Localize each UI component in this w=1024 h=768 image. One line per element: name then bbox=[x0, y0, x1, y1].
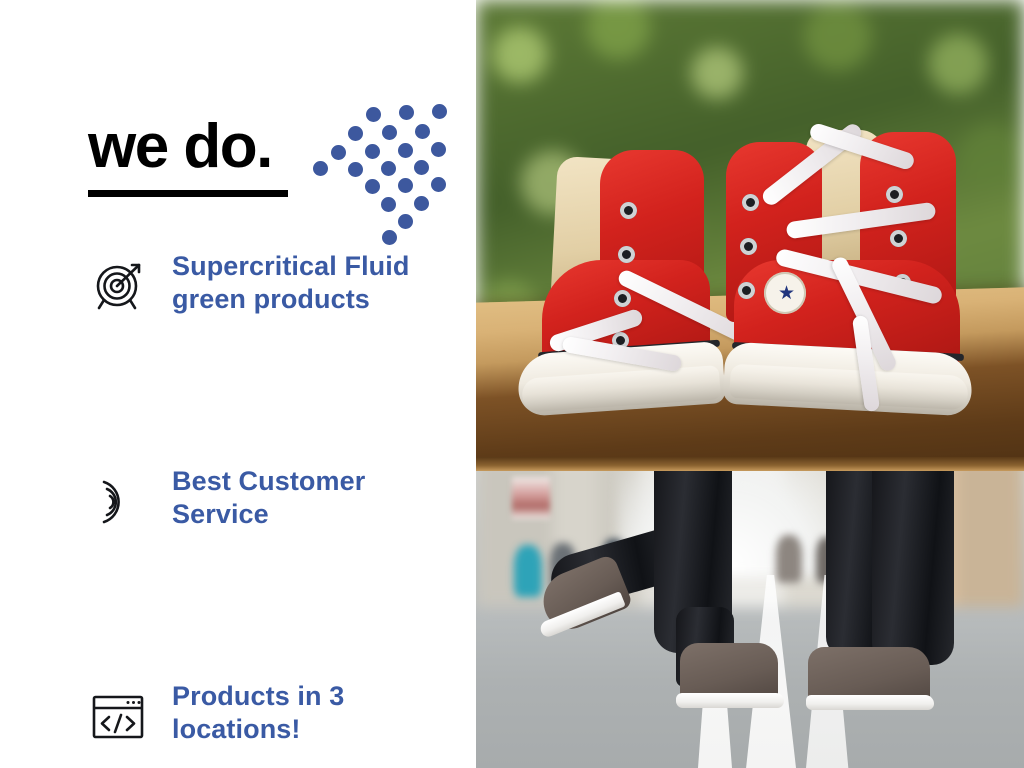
man-shoe-sole bbox=[806, 695, 934, 710]
feature-label: Supercritical Fluid green products bbox=[172, 250, 409, 316]
feature-list: Supercritical Fluid green products Best … bbox=[0, 250, 476, 768]
man-leg-right bbox=[872, 457, 954, 665]
feature-item-supercritical-fluid: Supercritical Fluid green products bbox=[0, 250, 476, 465]
browser-code-window-icon bbox=[86, 684, 152, 750]
signal-waves-icon bbox=[86, 469, 152, 535]
plank-edge-overlap bbox=[476, 457, 1024, 471]
feature-label: Best Customer Service bbox=[172, 465, 365, 531]
red-high-top-sneakers-photo: ★ bbox=[476, 0, 1024, 457]
street-poster bbox=[512, 477, 550, 519]
couple-walking-crosswalk-photo bbox=[476, 457, 1024, 768]
target-bullseye-arrow-icon bbox=[86, 254, 152, 320]
slide-root: we do. bbox=[0, 0, 1024, 768]
right-sneaker: ★ bbox=[690, 120, 990, 420]
woman-shoe-sole bbox=[676, 693, 784, 708]
feature-label: Products in 3 locations! bbox=[172, 680, 344, 746]
brand-block: we do. bbox=[88, 104, 448, 236]
title-underline bbox=[88, 190, 288, 197]
photo-column: ★ bbox=[476, 0, 1024, 768]
feature-item-three-locations: Products in 3 locations! bbox=[0, 680, 476, 768]
dot-grid-chevron-logo bbox=[326, 104, 450, 234]
page-title: we do. bbox=[88, 116, 272, 178]
feature-item-customer-service: Best Customer Service bbox=[0, 465, 476, 680]
left-content-panel: we do. bbox=[0, 0, 476, 768]
